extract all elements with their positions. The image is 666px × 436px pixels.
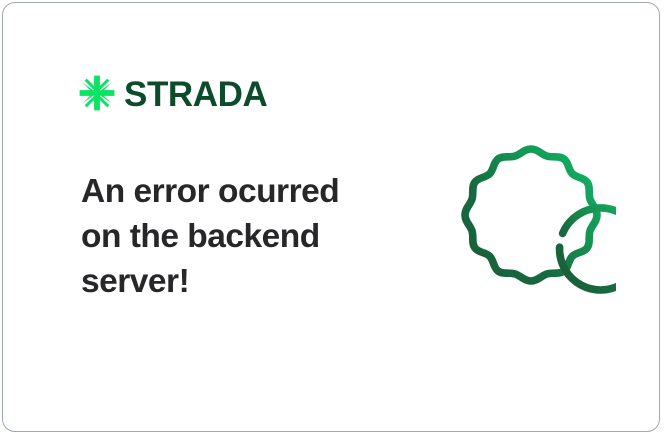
gear-icon — [446, 141, 616, 311]
error-card: STRADA An error ocurred on the backend s… — [2, 2, 660, 432]
strada-asterisk-icon — [79, 75, 115, 111]
brand-wordmark: STRADA — [124, 77, 267, 112]
error-message: An error ocurred on the backend server! — [81, 169, 371, 304]
brand-logo: STRADA — [79, 73, 267, 113]
